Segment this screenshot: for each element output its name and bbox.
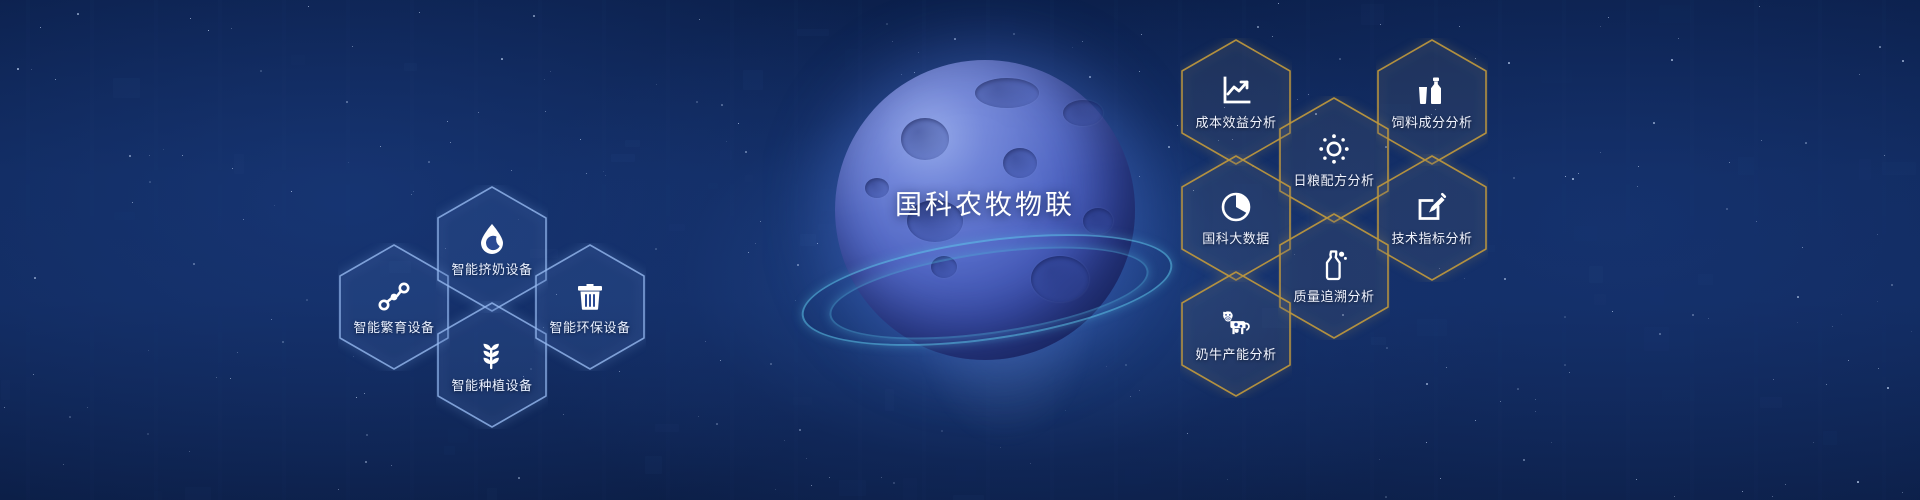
hex-item-label: 智能挤奶设备 bbox=[451, 259, 532, 278]
network-nodes-icon bbox=[377, 279, 411, 313]
analysis-cluster: 成本效益分析饲料成分分析日粮配方分析国科大数据技术指标分析质量追溯分析奶牛产能分… bbox=[1180, 38, 1530, 438]
hex-item-label: 智能繁育设备 bbox=[353, 317, 434, 336]
hex-item-label: 技术指标分析 bbox=[1391, 228, 1472, 247]
milk-bottle-icon bbox=[1317, 248, 1351, 282]
page-title: 国科农牧物联 bbox=[790, 183, 1180, 222]
hex-item-4[interactable]: 智能环保设备 bbox=[534, 243, 646, 371]
hex-item-label: 智能种植设备 bbox=[451, 375, 532, 394]
pie-chart-icon bbox=[1219, 190, 1253, 224]
hex-item-label: 奶牛产能分析 bbox=[1195, 344, 1276, 363]
hex-item-label: 日粮配方分析 bbox=[1293, 170, 1374, 189]
hex-item-1[interactable]: 成本效益分析 bbox=[1180, 38, 1292, 166]
hex-item-label: 国科大数据 bbox=[1202, 228, 1270, 247]
milk-bottle-cup-icon bbox=[1415, 74, 1449, 108]
hex-item-4[interactable]: 国科大数据 bbox=[1180, 154, 1292, 282]
hex-item-label: 成本效益分析 bbox=[1195, 112, 1276, 131]
sun-icon bbox=[1317, 132, 1351, 166]
hex-item-3[interactable]: 日粮配方分析 bbox=[1278, 96, 1390, 224]
hex-item-5[interactable]: 技术指标分析 bbox=[1376, 154, 1488, 282]
hex-item-label: 质量追溯分析 bbox=[1293, 286, 1374, 305]
recycle-bin-icon bbox=[573, 279, 607, 313]
milk-drop-icon bbox=[475, 221, 509, 255]
line-chart-icon bbox=[1219, 74, 1253, 108]
hex-item-1[interactable]: 智能繁育设备 bbox=[338, 243, 450, 371]
edit-pencil-icon bbox=[1415, 190, 1449, 224]
hex-item-2[interactable]: 智能挤奶设备 bbox=[436, 185, 548, 313]
hex-item-label: 饲料成分分析 bbox=[1391, 112, 1472, 131]
hex-item-label: 智能环保设备 bbox=[549, 317, 630, 336]
smart-equipment-cluster: 智能繁育设备智能挤奶设备智能种植设备智能环保设备 bbox=[338, 125, 668, 375]
cow-icon bbox=[1219, 306, 1253, 340]
hex-item-2[interactable]: 饲料成分分析 bbox=[1376, 38, 1488, 166]
hex-item-7[interactable]: 奶牛产能分析 bbox=[1180, 270, 1292, 398]
hero-banner: 智能繁育设备智能挤奶设备智能种植设备智能环保设备 国科农牧物联 成本效益分析饲料… bbox=[0, 0, 1920, 500]
plant-sprout-icon bbox=[475, 337, 509, 371]
hex-item-6[interactable]: 质量追溯分析 bbox=[1278, 212, 1390, 340]
hex-item-3[interactable]: 智能种植设备 bbox=[436, 301, 548, 429]
center-globe-area: 国科农牧物联 bbox=[790, 30, 1180, 390]
